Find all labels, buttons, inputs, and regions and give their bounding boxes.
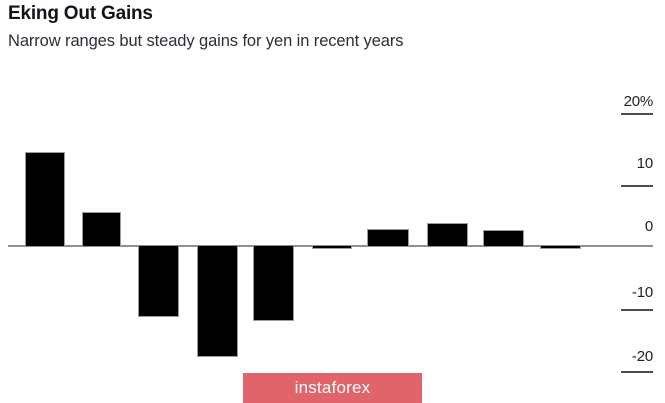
bar-2: [82, 212, 121, 246]
y-axis-tick-text: 0: [595, 219, 653, 235]
instaforex-watermark: instaforex: [243, 373, 422, 403]
bar-7: [367, 229, 409, 246]
y-axis-tick-rule-3: [621, 309, 653, 311]
bar-10: [540, 246, 581, 249]
bar-1: [25, 152, 65, 246]
y-axis-tick-rule-1: [621, 185, 653, 187]
bar-3: [138, 246, 179, 317]
plot-area: [0, 0, 665, 403]
watermark-label: instaforex: [295, 378, 371, 398]
y-axis-tick-label-3: -10: [595, 285, 653, 301]
y-axis-tick-label-1: 10: [595, 156, 653, 172]
y-axis-tick-rule-4: [621, 371, 653, 373]
y-axis-tick-text: 20%: [595, 94, 653, 110]
y-axis-tick-text: 10: [595, 156, 653, 172]
y-axis-tick-label-2: 0: [595, 219, 653, 235]
chart-figure: Eking Out Gains Narrow ranges but steady…: [0, 0, 665, 403]
y-axis: 20%100-10-20: [595, 0, 665, 403]
bar-5: [253, 246, 294, 321]
bar-8: [427, 223, 468, 246]
bar-4: [197, 246, 238, 357]
y-axis-tick-text: -10: [595, 285, 653, 301]
y-axis-tick-text: -20: [595, 349, 653, 365]
y-axis-tick-label-4: -20: [595, 349, 653, 365]
bar-6: [312, 246, 352, 249]
y-axis-tick-label-0: 20%: [595, 94, 653, 110]
y-axis-tick-rule-0: [621, 113, 653, 115]
bar-9: [483, 230, 524, 246]
